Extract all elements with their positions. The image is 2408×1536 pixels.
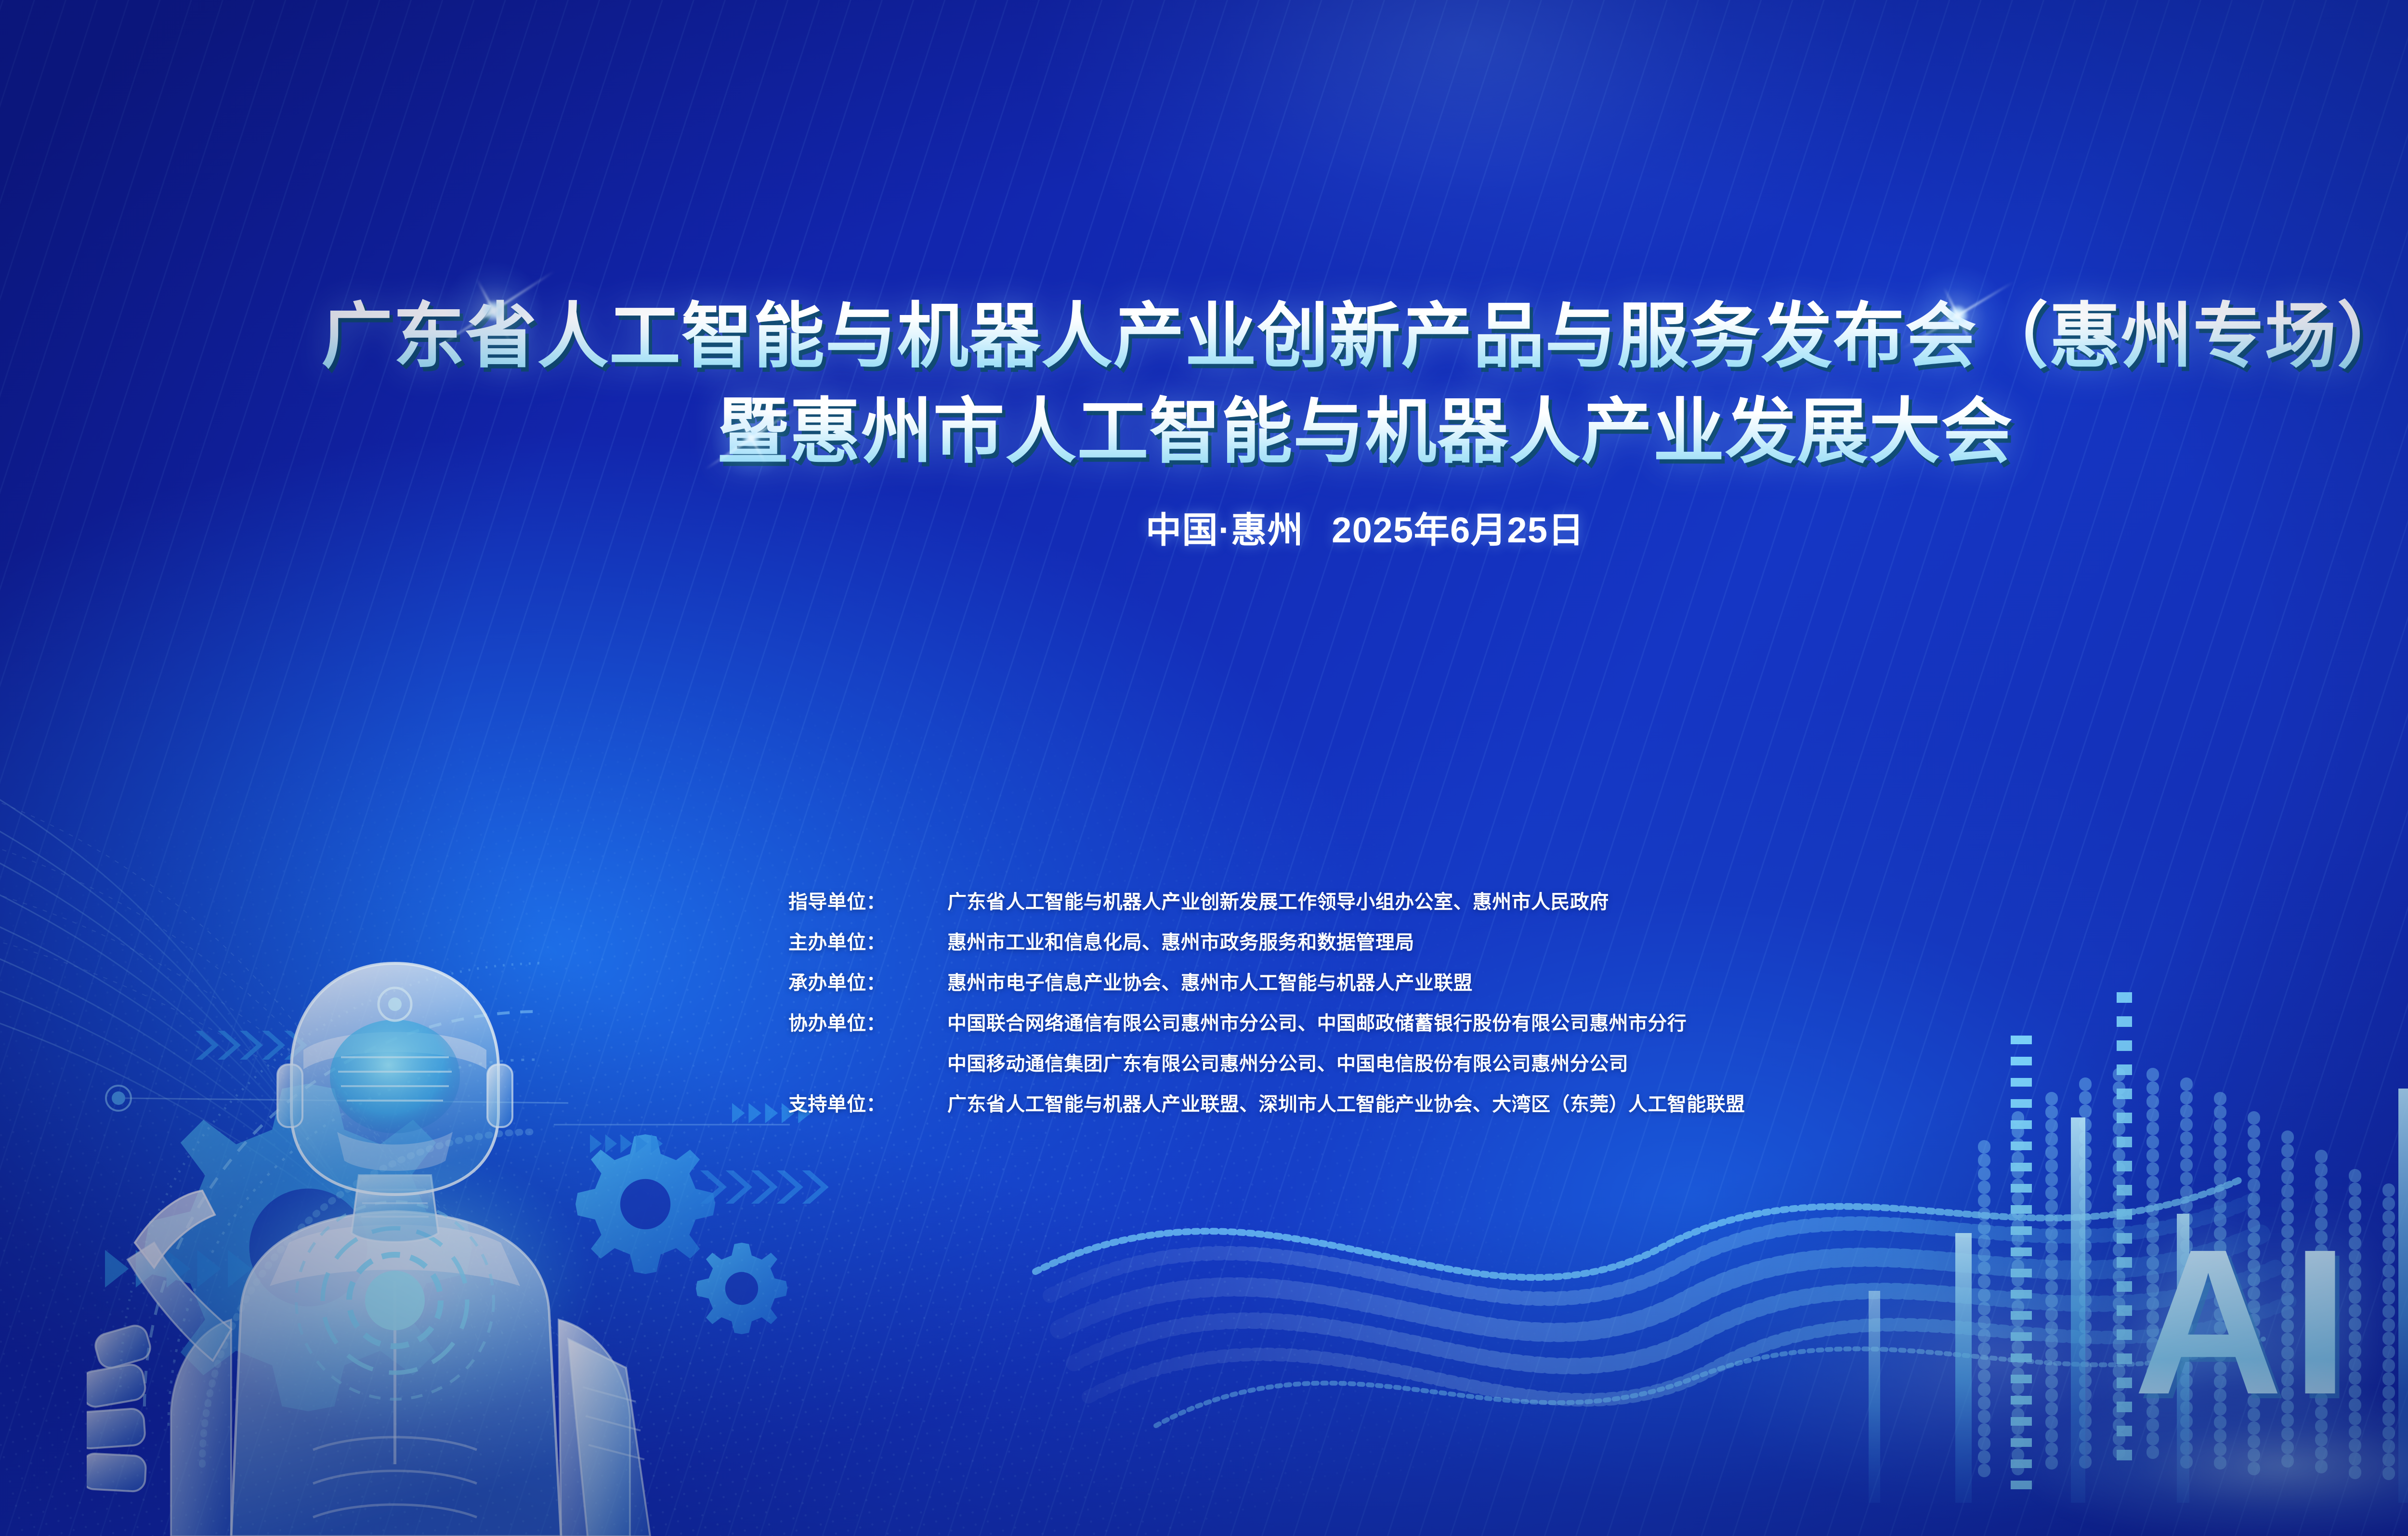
organizer-value: 惠州市电子信息产业协会、惠州市人工智能与机器人产业联盟: [947, 967, 1473, 995]
poster-title-line-2: 暨惠州市人工智能与机器人产业发展大会: [0, 384, 2408, 480]
vignette-overlay: [0, 0, 2408, 1536]
wave-band-decoration: [1035, 1074, 2408, 1522]
organizer-value: 惠州市工业和信息化局、惠州市政务服务和数据管理局: [947, 927, 1414, 955]
poster-subtitle: 中国·惠州2025年6月25日: [0, 501, 2408, 553]
tech-decoration-layer: [0, 0, 2408, 1536]
segmented-bar: [2011, 992, 2132, 1489]
triangle-arrows-icon: [590, 1134, 663, 1153]
diagonal-lines-texture: [0, 0, 2408, 1536]
organizer-label: 主办单位：: [788, 927, 947, 955]
organizer-value: 广东省人工智能与机器人产业联盟、深圳市人工智能产业协会、大湾区（东莞）人工智能联…: [947, 1089, 1745, 1116]
lens-flare-icon: [491, 308, 496, 313]
gear-icon: [576, 1134, 715, 1274]
chevron-arrows-icon: [196, 1031, 307, 1060]
dashed-arc-decoration: [120, 963, 544, 1464]
gear-icon: [696, 1243, 787, 1334]
headline-block: 广东省人工智能与机器人产业创新产品与服务发布会（惠州专场） 暨惠州市人工智能与机…: [0, 289, 2408, 553]
poster-canvas: 广东省人工智能与机器人产业创新产品与服务发布会（惠州专场） 暨惠州市人工智能与机…: [0, 0, 2408, 1536]
holographic-robot-illustration: [87, 906, 751, 1536]
organizer-value: 广东省人工智能与机器人产业创新发展工作领导小组办公室、惠州市人民政府: [947, 886, 1609, 914]
event-date: 2025年6月25日: [1332, 510, 1584, 550]
ai-wordmark-glow: [2018, 1387, 2408, 1536]
organizer-value: 中国联合网络通信有限公司惠州市分公司、中国邮政储蓄银行股份有限公司惠州市分行: [947, 1008, 1687, 1036]
triangle-arrows-icon: [105, 1250, 252, 1287]
node-connector: [106, 1086, 568, 1111]
mesh-ribbon-decoration: [0, 713, 694, 1339]
ai-wordmark: AI: [2133, 1219, 2357, 1426]
organizer-label: 指导单位：: [788, 886, 947, 914]
lens-flare-icon: [749, 436, 754, 441]
equalizer-bars: [1869, 992, 2408, 1503]
chevron-arrows-icon: [700, 1170, 829, 1204]
poster-title-line-1: 广东省人工智能与机器人产业创新产品与服务发布会（惠州专场）: [0, 289, 2408, 384]
gear-icon: [144, 1084, 472, 1411]
organizer-row: 协办单位： 中国联合网络通信有限公司惠州市分公司、中国邮政储蓄银行股份有限公司惠…: [788, 1008, 1745, 1036]
organizer-credits-block: 指导单位： 广东省人工智能与机器人产业创新发展工作领导小组办公室、惠州市人民政府…: [788, 886, 1745, 1129]
lens-flare-icon: [1955, 313, 1960, 318]
organizer-row: 支持单位： 广东省人工智能与机器人产业联盟、深圳市人工智能产业协会、大湾区（东莞…: [788, 1089, 1745, 1116]
organizer-row: 指导单位： 广东省人工智能与机器人产业创新发展工作领导小组办公室、惠州市人民政府: [788, 886, 1745, 914]
organizer-row: 主办单位： 惠州市工业和信息化局、惠州市政务服务和数据管理局: [788, 927, 1745, 955]
organizer-label: 承办单位：: [788, 967, 947, 995]
organizer-row-continuation: 协办单位： 中国移动通信集团广东有限公司惠州分公司、中国电信股份有限公司惠州分公…: [788, 1048, 1745, 1076]
organizer-label: 支持单位：: [788, 1089, 947, 1116]
organizer-row: 承办单位： 惠州市电子信息产业协会、惠州市人工智能与机器人产业联盟: [788, 967, 1745, 995]
event-location: 中国·惠州: [1146, 510, 1304, 550]
organizer-label: 协办单位：: [788, 1008, 947, 1036]
organizer-value: 中国移动通信集团广东有限公司惠州分公司、中国电信股份有限公司惠州分公司: [947, 1048, 1628, 1076]
top-glow: [1037, 0, 1904, 308]
